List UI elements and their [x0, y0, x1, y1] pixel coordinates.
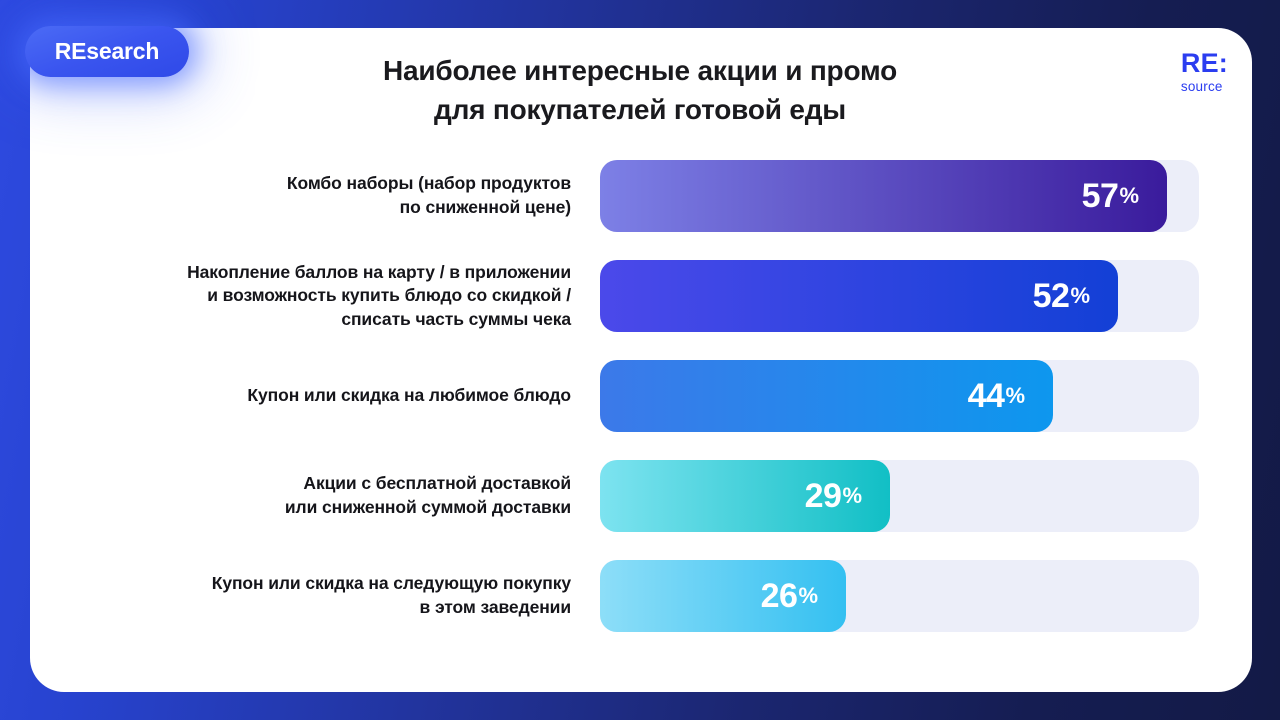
- chart-row-label-line: в этом заведении: [30, 596, 571, 620]
- chart-row-label: Накопление баллов на карту / в приложени…: [30, 261, 600, 332]
- chart-bar-percent-sign: %: [1005, 385, 1025, 407]
- chart-row-label-line: Акции с бесплатной доставкой: [30, 472, 571, 496]
- chart-row-label-line: по сниженной цене): [30, 196, 571, 220]
- chart-row-label: Купон или скидка на любимое блюдо: [30, 384, 600, 408]
- chart-row: Купон или скидка на следующую покупкув э…: [30, 560, 1252, 632]
- slide-canvas: REsearch RE: source Наиболее интересные …: [0, 0, 1280, 720]
- title-line-2: для покупателей готовой еды: [230, 91, 1050, 130]
- chart-row-label-line: или сниженной суммой доставки: [30, 496, 571, 520]
- chart-row-label: Комбо наборы (набор продуктовпо сниженно…: [30, 172, 600, 219]
- chart-bar-track: 29%: [600, 460, 1199, 532]
- chart-row-label-line: Накопление баллов на карту / в приложени…: [30, 261, 571, 285]
- chart-row-label-line: и возможность купить блюдо со скидкой /: [30, 284, 571, 308]
- chart-bar-fill: 26%: [600, 560, 846, 632]
- chart-bar-fill: 44%: [600, 360, 1053, 432]
- chart-row: Накопление баллов на карту / в приложени…: [30, 260, 1252, 332]
- chart-row: Комбо наборы (набор продуктовпо сниженно…: [30, 160, 1252, 232]
- chart-bar-track: 52%: [600, 260, 1199, 332]
- resource-logo: RE: source: [1181, 50, 1228, 94]
- chart-row-label: Акции с бесплатной доставкойили сниженно…: [30, 472, 600, 519]
- research-badge: REsearch: [25, 26, 189, 77]
- chart-row-label: Купон или скидка на следующую покупкув э…: [30, 572, 600, 619]
- logo-sub-text: source: [1181, 80, 1228, 94]
- chart-bar-percent-sign: %: [842, 485, 862, 507]
- chart-row-label-line: Комбо наборы (набор продуктов: [30, 172, 571, 196]
- chart-bar-value: 26: [761, 579, 798, 613]
- chart-bar-value: 52: [1033, 279, 1070, 313]
- chart-row-label-line: Купон или скидка на любимое блюдо: [30, 384, 571, 408]
- page-title: Наиболее интересные акции и промо для по…: [230, 52, 1050, 129]
- logo-main-text: RE:: [1181, 50, 1228, 77]
- chart-row: Акции с бесплатной доставкойили сниженно…: [30, 460, 1252, 532]
- chart-bar-fill: 57%: [600, 160, 1167, 232]
- chart-bar-percent-sign: %: [798, 585, 818, 607]
- chart-row-label-line: Купон или скидка на следующую покупку: [30, 572, 571, 596]
- chart-bar-fill: 52%: [600, 260, 1118, 332]
- chart-bar-value: 57: [1082, 179, 1119, 213]
- chart-bar-track: 57%: [600, 160, 1199, 232]
- chart-row-label-line: списать часть суммы чека: [30, 308, 571, 332]
- chart-bar-track: 44%: [600, 360, 1199, 432]
- title-line-1: Наиболее интересные акции и промо: [230, 52, 1050, 91]
- bar-chart: Комбо наборы (набор продуктовпо сниженно…: [30, 160, 1252, 632]
- chart-bar-fill: 29%: [600, 460, 890, 532]
- chart-bar-track: 26%: [600, 560, 1199, 632]
- research-badge-label: REsearch: [55, 38, 160, 65]
- chart-bar-percent-sign: %: [1119, 185, 1139, 207]
- chart-bar-value: 29: [805, 479, 842, 513]
- chart-bar-value: 44: [968, 379, 1005, 413]
- chart-row: Купон или скидка на любимое блюдо44%: [30, 360, 1252, 432]
- chart-bar-percent-sign: %: [1070, 285, 1090, 307]
